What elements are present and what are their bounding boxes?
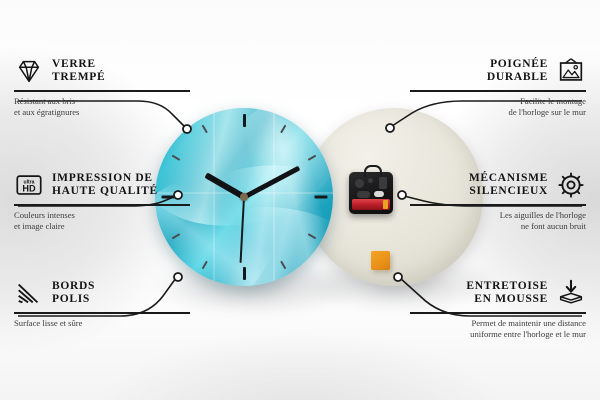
feature-divider bbox=[410, 90, 586, 92]
diamond-icon bbox=[14, 56, 44, 86]
feature-desc-line2: de l'horloge sur le mur bbox=[410, 107, 586, 118]
feature-title-line1: POIGNÉE bbox=[487, 58, 548, 72]
polished-edges-icon bbox=[14, 278, 44, 308]
feature-verre-trempe: VERRE TREMPÉ Résistant aux bris et aux é… bbox=[14, 56, 190, 118]
gear-icon bbox=[556, 170, 586, 200]
connector-node-entretoise bbox=[394, 273, 402, 281]
feature-desc-line1: Permet de maintenir une distance bbox=[410, 318, 586, 329]
feature-desc-line2: et aux égratignures bbox=[14, 107, 190, 118]
feature-poignee-durable: POIGNÉE DURABLE Facilite le montage de l… bbox=[410, 56, 586, 118]
infographic-canvas: VERRE TREMPÉ Résistant aux bris et aux é… bbox=[0, 0, 600, 400]
feature-divider bbox=[410, 312, 586, 314]
feature-desc-line2: ne font aucun bruit bbox=[410, 221, 586, 232]
connector-node-poignee bbox=[386, 124, 394, 132]
picture-frame-icon bbox=[556, 56, 586, 86]
feature-title-line1: ENTRETOISE bbox=[466, 280, 548, 294]
feature-desc-line1: Couleurs intenses bbox=[14, 210, 190, 221]
ultra-hd-icon: ultra HD bbox=[14, 170, 44, 200]
feature-divider bbox=[14, 90, 190, 92]
feature-title-line2: EN MOUSSE bbox=[466, 293, 548, 307]
feature-desc-line1: Facilite le montage bbox=[410, 96, 586, 107]
feature-entretoise-mousse: ENTRETOISE EN MOUSSE Permet de maintenir… bbox=[410, 278, 586, 340]
connector-node-mecanisme bbox=[398, 191, 406, 199]
feature-desc-line2: uniforme entre l'horloge et le mur bbox=[410, 329, 586, 340]
feature-desc-line1: Résistant aux bris bbox=[14, 96, 190, 107]
feature-desc-line1: Surface lisse et sûre bbox=[14, 318, 190, 329]
feature-title-line1: IMPRESSION DE bbox=[52, 172, 158, 186]
feature-title-line1: MÉCANISME bbox=[469, 172, 548, 186]
feature-title-line2: DURABLE bbox=[487, 71, 548, 85]
feature-title-line2: POLIS bbox=[52, 293, 95, 307]
feature-divider bbox=[14, 312, 190, 314]
feature-title-line2: TREMPÉ bbox=[52, 71, 105, 85]
feature-desc-line1: Les aiguilles de l'horloge bbox=[410, 210, 586, 221]
feature-title-line1: BORDS bbox=[52, 280, 95, 294]
ultra-hd-icon-main-label: HD bbox=[22, 184, 36, 194]
foam-spacer-icon bbox=[556, 278, 586, 308]
feature-divider bbox=[14, 204, 190, 206]
feature-mecanisme-silencieux: MÉCANISME SILENCIEUX Les aiguilles de l'… bbox=[410, 170, 586, 232]
feature-impression: ultra HD IMPRESSION DE HAUTE QUALITÉ Cou… bbox=[14, 170, 190, 232]
feature-title-line2: HAUTE QUALITÉ bbox=[52, 185, 158, 199]
feature-divider bbox=[410, 204, 586, 206]
feature-title-line2: SILENCIEUX bbox=[469, 185, 548, 199]
feature-title-line1: VERRE bbox=[52, 58, 105, 72]
feature-desc-line2: et image claire bbox=[14, 221, 190, 232]
feature-bords-polis: BORDS POLIS Surface lisse et sûre bbox=[14, 278, 190, 329]
connector-node-verre bbox=[183, 125, 191, 133]
